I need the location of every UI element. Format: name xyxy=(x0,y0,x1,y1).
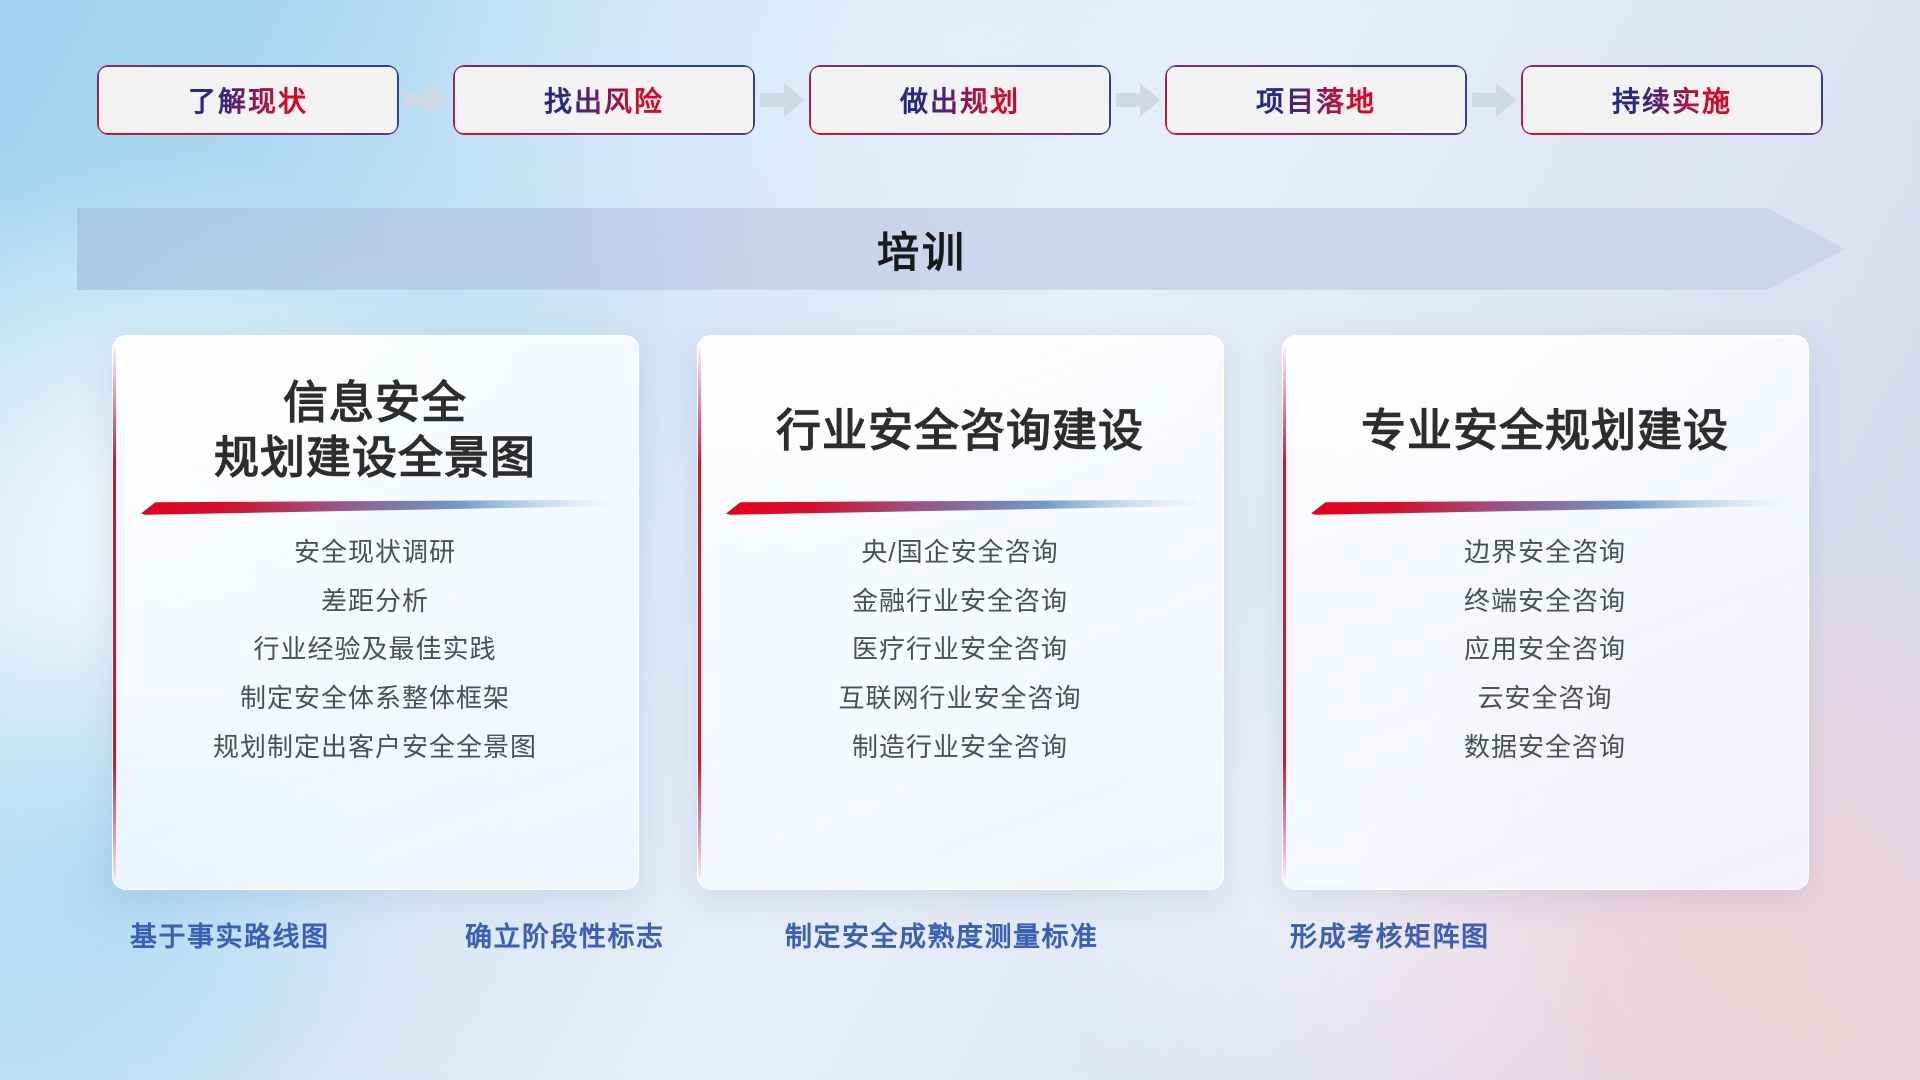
step-arrow-icon-3 xyxy=(1111,65,1165,135)
step-box-5[interactable]: 持续实施 xyxy=(1521,65,1823,135)
list-item: 互联网行业安全咨询 xyxy=(838,680,1081,718)
step-label-1: 了解现状 xyxy=(188,80,308,120)
caption-2: 确立阶段性标志 xyxy=(465,915,665,954)
step-arrow-icon-1 xyxy=(399,65,453,135)
banner-title: 培训 xyxy=(77,208,1767,290)
card-list-2: 央/国企安全咨询 金融行业安全咨询 医疗行业安全咨询 互联网行业安全咨询 制造行… xyxy=(724,534,1197,766)
card-1[interactable]: 信息安全 规划建设全景图 安全现状调研 差距分析 行 xyxy=(112,335,639,890)
process-step-flow: 了解现状 找出风险 做出规划 项目落地 持续实施 xyxy=(0,60,1920,140)
list-item: 数据安全咨询 xyxy=(1464,729,1626,767)
caption-4: 形成考核矩阵图 xyxy=(1290,915,1490,954)
caption-3: 制定安全成熟度测量标准 xyxy=(785,915,1099,954)
list-item: 终端安全咨询 xyxy=(1464,583,1626,621)
list-item: 行业经验及最佳实践 xyxy=(253,631,496,669)
card-title-2: 行业安全咨询建设 xyxy=(776,372,1144,490)
list-item: 制定安全体系整体框架 xyxy=(240,680,510,718)
card-title-3: 专业安全规划建设 xyxy=(1361,372,1729,490)
card-divider-2 xyxy=(724,496,1197,516)
step-arrow-icon-2 xyxy=(755,65,809,135)
card-divider-3 xyxy=(1309,496,1782,516)
step-box-3[interactable]: 做出规划 xyxy=(809,65,1111,135)
caption-row: 基于事实路线图 确立阶段性标志 制定安全成熟度测量标准 形成考核矩阵图 xyxy=(0,915,1920,975)
card-2[interactable]: 行业安全咨询建设 央/国企安全咨询 金融行业安全咨询 xyxy=(697,335,1224,890)
training-banner: 培训 xyxy=(77,208,1845,290)
card-3[interactable]: 专业安全规划建设 边界安全咨询 终端安全咨询 应用安 xyxy=(1282,335,1809,890)
step-label-5: 持续实施 xyxy=(1612,80,1732,120)
step-box-1[interactable]: 了解现状 xyxy=(97,65,399,135)
step-arrow-icon-4 xyxy=(1467,65,1521,135)
list-item: 云安全咨询 xyxy=(1477,680,1612,718)
step-box-4[interactable]: 项目落地 xyxy=(1165,65,1467,135)
list-item: 医疗行业安全咨询 xyxy=(852,631,1068,669)
card-list-3: 边界安全咨询 终端安全咨询 应用安全咨询 云安全咨询 数据安全咨询 xyxy=(1309,534,1782,766)
step-label-4: 项目落地 xyxy=(1256,80,1376,120)
card-title-1: 信息安全 规划建设全景图 xyxy=(214,372,536,490)
list-item: 制造行业安全咨询 xyxy=(852,729,1068,767)
step-label-2: 找出风险 xyxy=(544,80,664,120)
caption-1: 基于事实路线图 xyxy=(130,915,330,954)
list-item: 差距分析 xyxy=(321,583,429,621)
card-divider-1 xyxy=(139,496,612,516)
list-item: 应用安全咨询 xyxy=(1464,631,1626,669)
step-box-2[interactable]: 找出风险 xyxy=(453,65,755,135)
list-item: 规划制定出客户安全全景图 xyxy=(213,729,537,767)
card-list-1: 安全现状调研 差距分析 行业经验及最佳实践 制定安全体系整体框架 规划制定出客户… xyxy=(139,534,612,766)
card-group: 信息安全 规划建设全景图 安全现状调研 差距分析 行 xyxy=(0,335,1920,890)
list-item: 央/国企安全咨询 xyxy=(861,534,1058,572)
list-item: 安全现状调研 xyxy=(294,534,456,572)
list-item: 金融行业安全咨询 xyxy=(852,583,1068,621)
step-label-3: 做出规划 xyxy=(900,80,1020,120)
list-item: 边界安全咨询 xyxy=(1464,534,1626,572)
